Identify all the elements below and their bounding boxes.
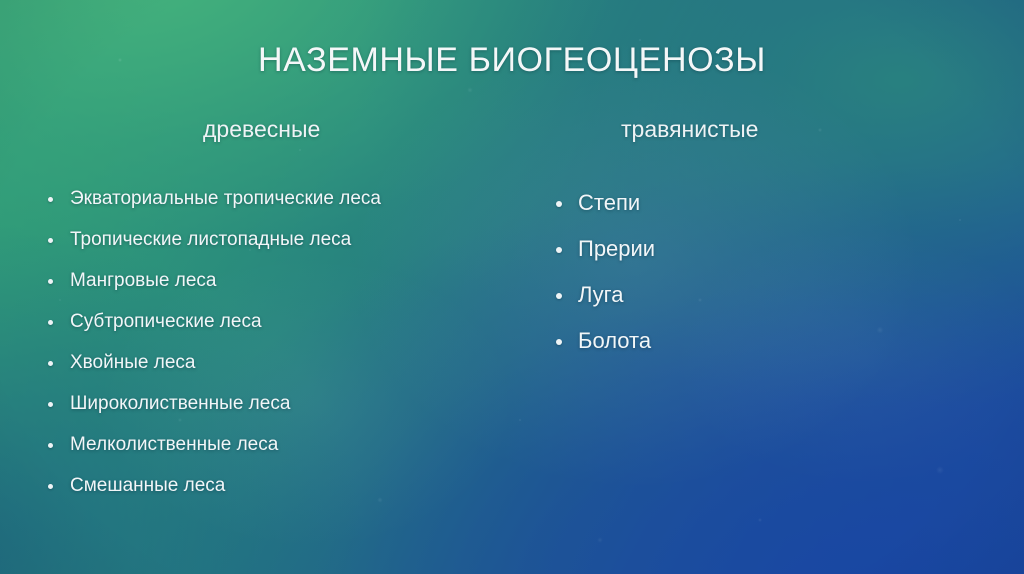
list-item: Степи bbox=[556, 188, 655, 234]
list-item: Мангровые леса bbox=[48, 268, 381, 309]
list-item-label: Экваториальные тропические леса bbox=[70, 188, 381, 209]
list-item-label: Болота bbox=[578, 328, 651, 353]
column-heading-woody: древесные bbox=[203, 114, 320, 144]
list-item: Прерии bbox=[556, 234, 655, 280]
presentation-slide: НАЗЕМНЫЕ БИОГЕОЦЕНОЗЫ древесные Экватори… bbox=[0, 0, 1024, 574]
list-item-label: Мангровые леса bbox=[70, 270, 216, 291]
bullet-dot-icon bbox=[556, 339, 562, 345]
bullet-dot-icon bbox=[48, 238, 53, 243]
bullet-dot-icon bbox=[48, 402, 53, 407]
list-item-label: Прерии bbox=[578, 236, 655, 261]
list-item-label: Субтропические леса bbox=[70, 311, 262, 332]
list-item: Тропические листопадные леса bbox=[48, 227, 381, 268]
bullet-dot-icon bbox=[48, 320, 53, 325]
bullet-dot-icon bbox=[48, 197, 53, 202]
slide-content: НАЗЕМНЫЕ БИОГЕОЦЕНОЗЫ древесные Экватори… bbox=[0, 0, 1024, 574]
list-item-label: Смешанные леса bbox=[70, 475, 225, 496]
bullet-dot-icon bbox=[556, 247, 562, 253]
bullet-dot-icon bbox=[556, 201, 562, 207]
list-item-label: Тропические листопадные леса bbox=[70, 229, 351, 250]
slide-title: НАЗЕМНЫЕ БИОГЕОЦЕНОЗЫ bbox=[0, 39, 1024, 81]
herbaceous-biogeocenoses-list: Степи Прерии Луга Болота bbox=[556, 188, 655, 372]
list-item: Экваториальные тропические леса bbox=[48, 186, 381, 227]
list-item: Хвойные леса bbox=[48, 350, 381, 391]
bullet-dot-icon bbox=[556, 293, 562, 299]
list-item: Широколиственные леса bbox=[48, 391, 381, 432]
list-item-label: Луга bbox=[578, 282, 623, 307]
bullet-dot-icon bbox=[48, 484, 53, 489]
bullet-dot-icon bbox=[48, 443, 53, 448]
list-item: Луга bbox=[556, 280, 655, 326]
list-item: Мелколиственные леса bbox=[48, 432, 381, 473]
list-item-label: Мелколиственные леса bbox=[70, 434, 278, 455]
woody-biogeocenoses-list: Экваториальные тропические леса Тропичес… bbox=[48, 186, 381, 514]
list-item: Болота bbox=[556, 326, 655, 372]
list-item-label: Хвойные леса bbox=[70, 352, 195, 373]
bullet-dot-icon bbox=[48, 361, 53, 366]
list-item-label: Широколиственные леса bbox=[70, 393, 290, 414]
column-heading-herbaceous: травянистые bbox=[621, 114, 758, 144]
list-item-label: Степи bbox=[578, 190, 640, 215]
list-item: Субтропические леса bbox=[48, 309, 381, 350]
bullet-dot-icon bbox=[48, 279, 53, 284]
list-item: Смешанные леса bbox=[48, 473, 381, 514]
